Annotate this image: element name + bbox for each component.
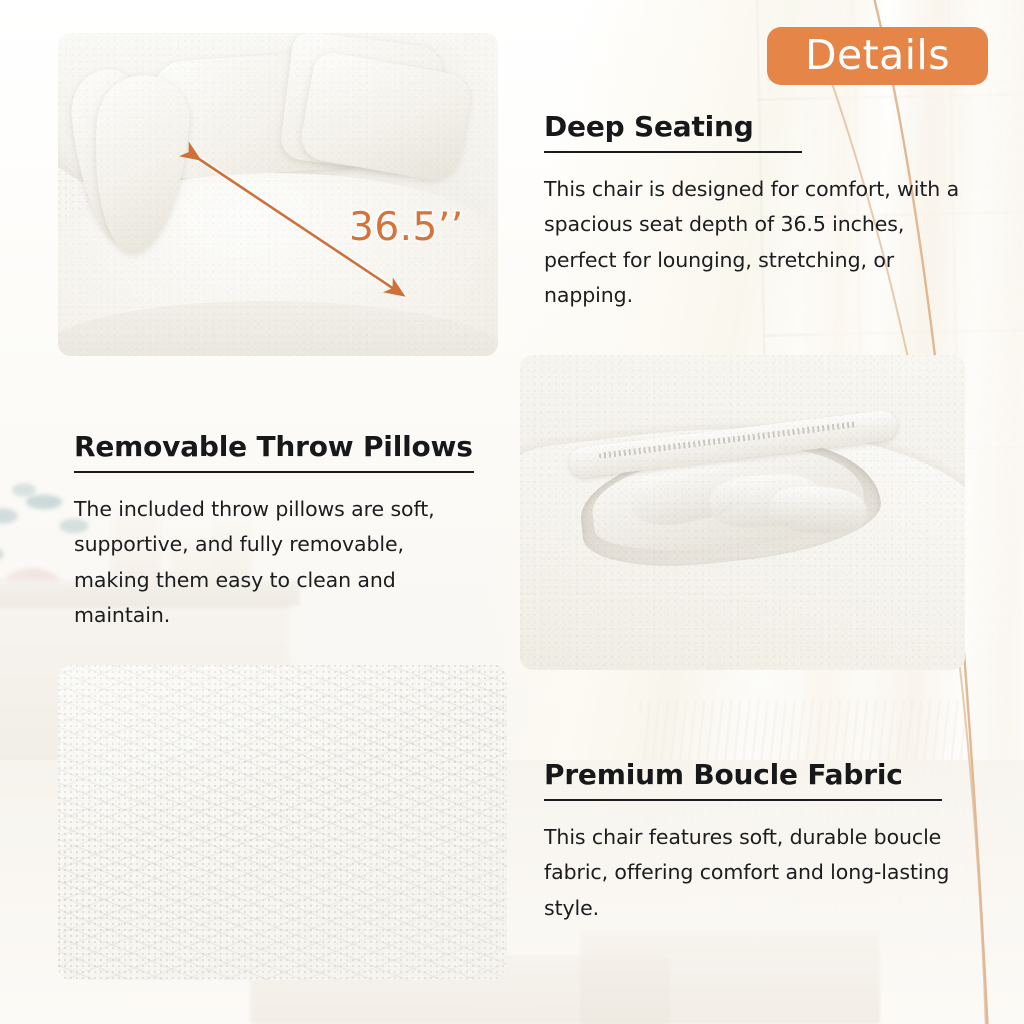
photo-zipper-detail xyxy=(520,355,965,670)
section-body: This chair features soft, durable boucle… xyxy=(544,820,956,926)
title-underline xyxy=(544,151,802,153)
title-underline xyxy=(74,471,474,473)
title-underline xyxy=(544,799,942,801)
section-title: Premium Boucle Fabric xyxy=(544,760,956,790)
boucle-texture-overlay xyxy=(520,355,965,670)
photo-card-boucle-fabric xyxy=(58,665,507,980)
photo-fabric-swatch xyxy=(58,665,507,980)
section-deep-seating: Deep Seating This chair is designed for … xyxy=(544,112,964,313)
dimension-label: 36.5’’ xyxy=(349,205,464,250)
section-title: Deep Seating xyxy=(544,112,964,142)
photo-deep-seating: 36.5’’ xyxy=(58,33,498,356)
section-title: Removable Throw Pillows xyxy=(74,432,484,462)
dimension-arrow-36-5 xyxy=(58,33,498,356)
photo-card-removable-pillows xyxy=(520,355,965,670)
details-badge-label: Details xyxy=(805,35,950,76)
section-body: The included throw pillows are soft, sup… xyxy=(74,492,484,633)
section-body: This chair is designed for comfort, with… xyxy=(544,172,964,313)
fabric-sheen xyxy=(58,665,507,980)
photo-card-deep-seating: 36.5’’ xyxy=(58,33,498,356)
details-badge: Details xyxy=(767,27,988,85)
section-removable-throw-pillows: Removable Throw Pillows The included thr… xyxy=(74,432,484,633)
background-tray xyxy=(580,930,880,1024)
section-premium-boucle-fabric: Premium Boucle Fabric This chair feature… xyxy=(544,760,956,926)
details-infographic: Details xyxy=(0,0,1024,1024)
